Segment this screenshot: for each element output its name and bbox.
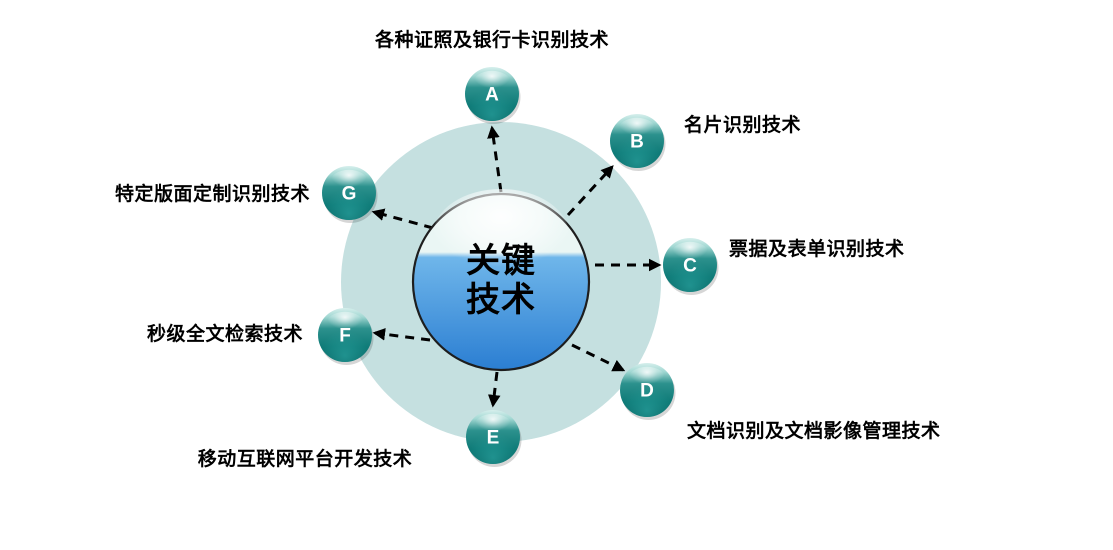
node-label-e: 移动互联网平台开发技术 [55,449,555,471]
node-c[interactable]: C [663,238,719,295]
diagram-canvas: 关键 技术 ABCDEFG 各种证照及银行卡识别技术名片识别技术票据及表单识别技… [0,0,1113,550]
node-letter-c: C [683,256,697,277]
center-label-line1: 关键 [466,242,536,280]
center-label-line2: 技术 [466,281,536,319]
node-letter-e: E [487,428,500,449]
center-node[interactable]: 关键 技术 [413,189,589,370]
node-label-g: 特定版面定制识别技术 [0,184,310,206]
node-b[interactable]: B [610,114,666,171]
node-letter-d: D [640,381,654,402]
node-a[interactable]: A [465,67,521,124]
node-letter-b: B [630,132,644,153]
node-label-f: 秒级全文检索技术 [0,324,303,346]
node-letter-g: G [342,184,357,205]
node-g[interactable]: G [322,166,378,223]
node-label-d: 文档识别及文档影像管理技术 [687,421,941,443]
node-letter-f: F [339,326,351,347]
node-label-b: 名片识别技术 [684,115,801,137]
node-label-c: 票据及表单识别技术 [729,239,905,261]
node-label-a: 各种证照及银行卡识别技术 [242,30,742,52]
node-d[interactable]: D [620,363,676,420]
node-letter-a: A [485,85,499,106]
